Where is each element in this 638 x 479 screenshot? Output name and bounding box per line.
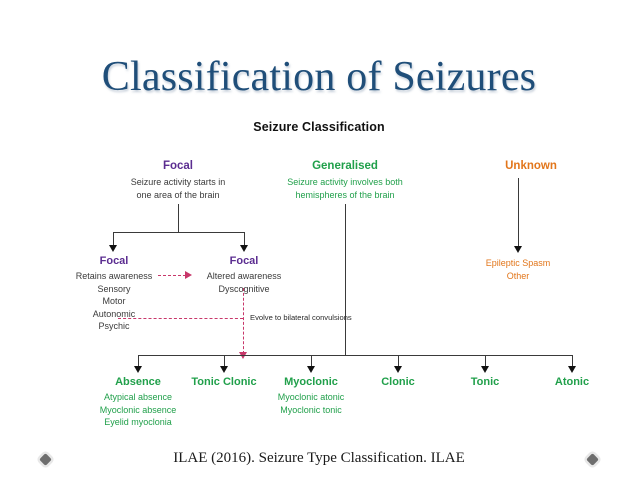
page-title: Classification of Seizures xyxy=(0,52,638,102)
arrow-absence xyxy=(134,366,142,373)
node-tonic-clonic-title: Tonic Clonic xyxy=(174,376,274,388)
node-focal-root-description: Seizure activity starts in one area of t… xyxy=(98,176,258,201)
connector-generalised-stem xyxy=(345,204,346,355)
arrow-myoclonic xyxy=(307,366,315,373)
evolution-arrow-line-horizontal xyxy=(158,275,186,276)
node-clonic-title: Clonic xyxy=(348,376,448,388)
arrow-tonic-clonic xyxy=(220,366,228,373)
arrow-focal-right xyxy=(240,245,248,252)
node-generalised-root-description: Seizure activity involves both hemispher… xyxy=(263,176,427,201)
arrow-clonic xyxy=(394,366,402,373)
node-absence-items: Atypical absence Myoclonic absence Eyeli… xyxy=(78,391,198,429)
node-myoclonic-title: Myoclonic xyxy=(261,376,361,388)
slide-canvas: Classification of Seizures Seizure Class… xyxy=(0,0,638,479)
evolution-line-long-horizontal xyxy=(118,318,243,319)
evolution-arrow-head-right xyxy=(185,271,192,279)
diagram-heading: Seizure Classification xyxy=(0,120,638,134)
node-myoclonic-items: Myoclonic atonic Myoclonic tonic xyxy=(251,391,371,416)
node-unknown-items: Epileptic Spasm Other xyxy=(458,257,578,282)
node-absence-title: Absence xyxy=(88,376,188,388)
connector-focal-left-drop xyxy=(113,232,114,246)
node-focal-altered-items: Altered awareness Dyscognitive xyxy=(183,270,305,295)
node-generalised-root: Generalised xyxy=(285,160,405,172)
connector-focal-bar xyxy=(113,232,244,233)
node-unknown-root: Unknown xyxy=(471,160,591,172)
arrow-focal-left xyxy=(109,245,117,252)
node-tonic-title: Tonic xyxy=(435,376,535,388)
footer-citation: ILAE (2016). Seizure Type Classification… xyxy=(0,450,638,467)
node-focal-altered-title: Focal xyxy=(188,255,300,267)
node-atonic-title: Atonic xyxy=(522,376,622,388)
connector-generalised-bus xyxy=(138,355,572,356)
connector-focal-stem xyxy=(178,204,179,232)
connector-focal-right-drop xyxy=(244,232,245,246)
arrow-atonic xyxy=(568,366,576,373)
seizure-classification-diagram: Seizure Classification Focal Seizure act… xyxy=(0,112,638,432)
evolution-label: Evolve to bilateral convulsions xyxy=(250,313,352,322)
arrow-tonic xyxy=(481,366,489,373)
connector-unknown-stem xyxy=(518,178,519,248)
node-focal-root: Focal xyxy=(118,160,238,172)
arrow-unknown xyxy=(514,246,522,253)
evolution-line-vertical xyxy=(243,288,244,354)
node-focal-retains-title: Focal xyxy=(58,255,170,267)
node-focal-retains-items: Retains awareness Sensory Motor Autonomi… xyxy=(53,270,175,333)
